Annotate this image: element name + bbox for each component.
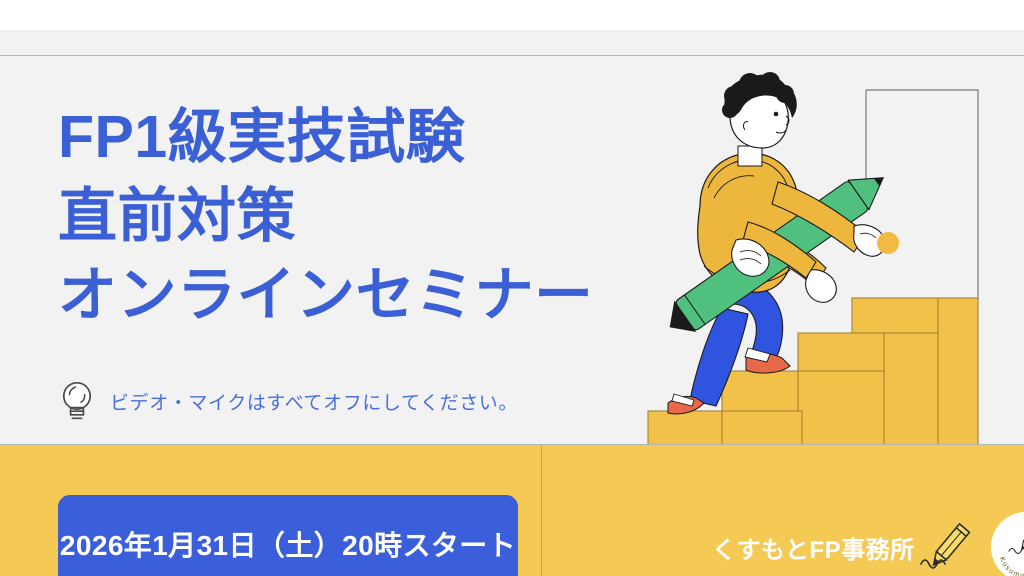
circular-logo-badge: Kusumoto FP office: [983, 510, 1024, 576]
top-divider-rule: [0, 55, 1024, 56]
notice-row: ビデオ・マイクはすべてオフにしてください。: [56, 378, 518, 424]
notice-text: ビデオ・マイクはすべてオフにしてください。: [110, 388, 518, 415]
lightbulb-icon: [56, 378, 98, 424]
date-badge[interactable]: 2026年1月31日（土）20時スタート: [58, 495, 518, 576]
seminar-poster: FP1級実技試験 直前対策 オンラインセミナー ビデオ・マイクはすべてオフにして…: [0, 0, 1024, 576]
brand-block: くすもとFP事務所: [712, 510, 1024, 576]
date-badge-text: 2026年1月31日（土）20時スタート: [60, 524, 516, 564]
top-white-margin: [0, 0, 1024, 30]
brand-name: くすもとFP事務所: [712, 530, 915, 565]
page-title: FP1級実技試験 直前対策 オンラインセミナー: [58, 98, 678, 335]
poster-canvas: FP1級実技試験 直前対策 オンラインセミナー ビデオ・マイクはすべてオフにして…: [0, 30, 1024, 576]
footer-vertical-divider: [541, 445, 542, 576]
illustration-person-climbing-stairs: [630, 70, 1024, 450]
pencil-icon: [919, 516, 979, 576]
